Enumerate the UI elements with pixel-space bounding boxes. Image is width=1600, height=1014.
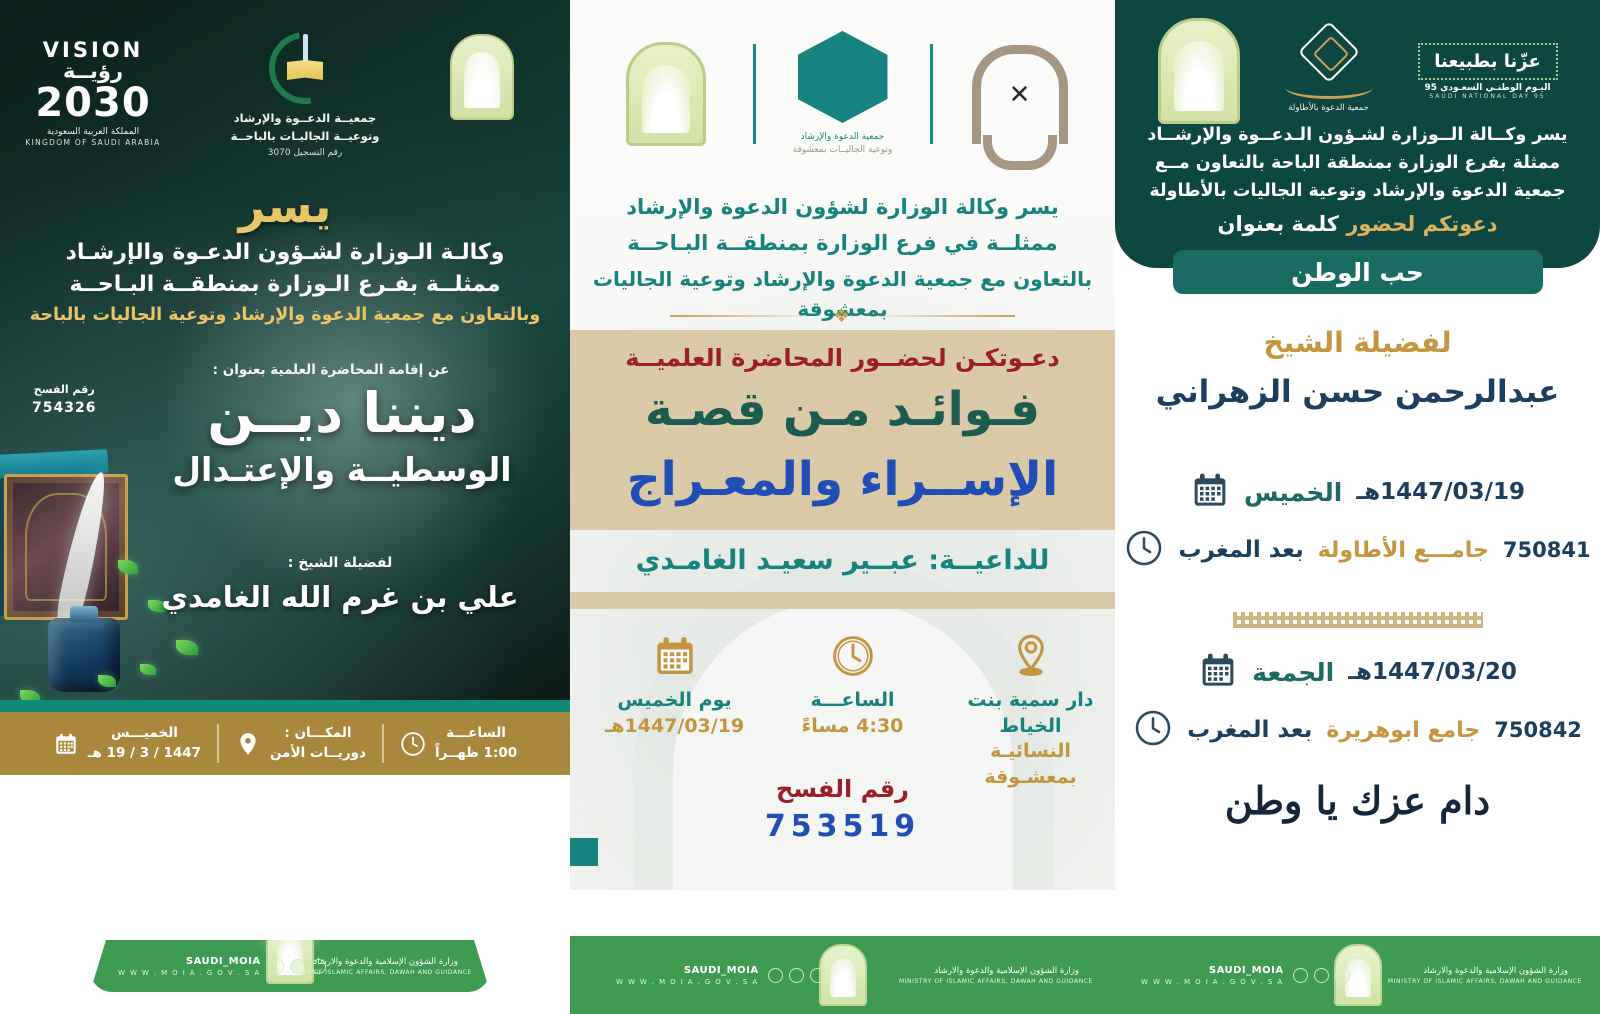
footer-url: W W W . M O I A . G O V . S A <box>1141 978 1284 986</box>
poster-1-sheikh-name: علي بن غرم الله الغامدي <box>130 580 550 614</box>
poster-2-title-line-1: فـوائـد مـن قصـة <box>570 385 1115 434</box>
poster-1-footer-wrap: SAUDI_MOIA W W W . M O I A . G O V . S A… <box>90 940 490 992</box>
poster-1-occasion: عن إقامة المحاضرة العلمية بعنوان : <box>116 362 546 378</box>
national-day-caption-ar: اليـوم الوطنـي السعـودي 95 <box>1418 83 1558 93</box>
permit-number: 754326 <box>32 398 96 418</box>
poster-1-accent-strip <box>0 700 570 712</box>
national-day-logo: عزّنا بطبيعنا اليـوم الوطنـي السعـودي 95… <box>1418 43 1558 100</box>
detail-date-label: يوم الخميس <box>595 688 755 714</box>
qaf-icon: ✕ <box>972 45 1068 144</box>
poster-3-sheikh-name: عبدالرحمن حسن الزهراني <box>1115 374 1600 410</box>
poster-1-header: VISION رؤيــة 2030 المملكة العربية السعو… <box>0 18 570 168</box>
poster-2: ✕ جمعية الدعوة والإرشاد وتوعية الجاليــا… <box>570 0 1115 1014</box>
ministry-footer-bar: SAUDI_MOIA W W W . M O I A . G O V . S A… <box>1115 936 1600 1014</box>
clock-icon <box>830 630 876 682</box>
invite-rest: كلمة بعنوان <box>1218 212 1340 236</box>
national-day-headline: عزّنا بطبيعنا <box>1418 43 1558 80</box>
ministry-logo-2 <box>591 42 741 146</box>
location-pin-icon <box>1009 630 1053 682</box>
detail-time-label: الساعـــة <box>773 688 933 714</box>
poster-1-permit: رقم الفسح 754326 <box>32 382 96 418</box>
calendar-icon <box>1198 650 1238 690</box>
poster-2-speaker: للداعيــة: عبــير سعيـد الغامـدي <box>570 545 1115 576</box>
footer-handle: SAUDI_MOIA <box>118 955 261 969</box>
info-item-time: الساعـــة 1:00 ظهــراً <box>384 724 533 763</box>
footer-url: W W W . M O I A . G O V . S A <box>118 969 261 977</box>
info-item-place: المكـــان : دوريــات الأمن <box>219 724 384 763</box>
invite-bold: دعوتكم لحضور <box>1346 212 1497 236</box>
calendar-icon <box>652 630 698 682</box>
ministry-line-2: ممثلــة بفـرع الـوزارة بمنطقــة البـاحــ… <box>0 269 570 301</box>
diamond-emblem-icon <box>1307 30 1351 74</box>
poster-1-yusr: يسر <box>0 183 570 229</box>
session-2-day: الجمعة <box>1252 658 1334 687</box>
ministry-emblem-icon <box>626 42 706 146</box>
twitter-icon[interactable] <box>810 968 825 983</box>
calendar-icon <box>53 731 79 757</box>
session-2-date: 1447/03/20هـ <box>1348 659 1517 685</box>
facebook-icon[interactable] <box>789 968 804 983</box>
date-value: 1447 / 3 / 19 هـ <box>88 744 201 764</box>
footer-url: W W W . M O I A . G O V . S A <box>616 978 759 986</box>
association-line-1: جمعيــة الدعــوة والإرشاد <box>215 110 395 128</box>
poster-2-invite: دعـوتكـن لحضــور المحاضرة العلميــة <box>570 344 1115 372</box>
poster-3: عزّنا بطبيعنا اليـوم الوطنـي السعـودي 95… <box>1115 0 1600 1014</box>
poster-1-sheikh-label: لفضيلة الشيخ : <box>130 555 550 571</box>
ministry-footer-bar: SAUDI_MOIA W W W . M O I A . G O V . S A… <box>570 936 1115 1014</box>
calendar-icon <box>1190 470 1230 510</box>
poster-1-title-line-1: ديننا ديــن <box>132 385 552 443</box>
session-1-date-row: 1447/03/19هـ الخميس <box>1115 470 1600 514</box>
detail-time-value: 4:30 مساءً <box>773 714 933 740</box>
poster-3-header-card: عزّنا بطبيعنا اليـوم الوطنـي السعـودي 95… <box>1115 0 1600 268</box>
poster-3-invite: دعوتكم لحضور كلمة بعنوان <box>1115 212 1600 236</box>
poster-2-ministry-line-2: ممثلــة في فرع الوزارة بمنطقــة البـاحــ… <box>570 228 1115 260</box>
date-day: الخميـــس <box>88 724 201 744</box>
kufic-cube-icon <box>798 31 888 123</box>
dawah-meshqa-logo: جمعية الدعوة والإرشاد وتوعية الجاليــات … <box>768 31 918 157</box>
poster-2-title-line-2: الإســراء والمعـراج <box>570 455 1115 504</box>
association-registration: رقم التسجيل 3070 <box>215 148 395 158</box>
poster-3-sheikh-label: لفضيلة الشيخ <box>1115 326 1600 359</box>
ministry-footer-bar: SAUDI_MOIA W W W . M O I A . G O V . S A… <box>90 940 490 992</box>
poster-2-permit: رقم الفسح 753519 <box>570 775 1115 844</box>
clock-icon <box>1133 708 1173 748</box>
poster-3-ornament-divider <box>1233 612 1483 628</box>
poster-3-calligraphy: دام عزك يا وطن <box>1115 778 1600 823</box>
poster-1-card: VISION رؤيــة 2030 المملكة العربية السعو… <box>0 0 570 775</box>
poster-1-ministry: وكالـة الـوزارة لشـؤون الدعـوة والإرشـاد… <box>0 237 570 301</box>
assoc2-line-1: جمعية الدعوة والإرشاد <box>793 131 893 144</box>
session-1-date: 1447/03/19هـ <box>1356 479 1525 505</box>
poster-2-details-row: دار سمية بنت الخياط النسائيـة بمعشـوقة ا… <box>570 622 1115 791</box>
poster-3-ministry-line-3: جمعية الدعوة والإرشاد وتوعية الجاليات با… <box>1115 178 1600 204</box>
poster-2-ministry-line-1: يسر وكالة الوزارة لشؤون الدعوة والإرشاد <box>570 192 1115 224</box>
detail-time: الساعـــة 4:30 مساءً <box>773 622 933 791</box>
session-2-time: بعد المغرب <box>1187 717 1312 743</box>
session-1-mosque: جامـــع الأطاولة <box>1318 538 1489 563</box>
instagram-icon[interactable] <box>768 968 783 983</box>
ornament-divider-icon: ❖ <box>663 305 1023 327</box>
vision-2030-logo: VISION رؤيــة 2030 المملكة العربية السعو… <box>18 40 168 147</box>
footer-ministry-ar: وزارة الشؤون الإسلامية والدعوة والارشاد <box>899 965 1093 978</box>
assoc2-line-2: وتوعية الجاليــات بمعشوقة <box>793 145 893 155</box>
instagram-icon[interactable] <box>1293 968 1308 983</box>
footer-handle: SAUDI_MOIA <box>616 964 759 978</box>
session-1-place-row: 750841 جامـــع الأطاولة بعد المغرب <box>1115 528 1600 572</box>
dawah-association-logo: جمعيــة الدعــوة والإرشاد وتوعيــة الجال… <box>215 32 395 158</box>
detail-date-value: 1447/03/19هـ <box>595 714 755 740</box>
poster-3-ministry-line-2: ممثلة بفرع الوزارة بمنطقة الباحة بالتعاو… <box>1115 150 1600 176</box>
logo-divider-1 <box>930 44 933 144</box>
session-2-place-row: 750842 جامع ابوهريرة بعد المغرب <box>1115 708 1600 752</box>
footer-ministry-ar: وزارة الشؤون الإسلامية والدعوة والارشاد <box>278 956 472 969</box>
ministry-emblem-icon <box>1158 18 1240 124</box>
footer-ministry-ar: وزارة الشؤون الإسلامية والدعوة والارشاد <box>1388 965 1582 978</box>
permit-label: رقم الفسح <box>32 382 96 398</box>
association3-caption: جمعية الدعوة بالأطاولة <box>1274 103 1384 113</box>
location-pin-icon <box>235 731 261 757</box>
detail-date: يوم الخميس 1447/03/19هـ <box>595 622 755 791</box>
poster-1-cooperation: وبالتعاون مع جمعية الدعوة والإرشاد وتوعي… <box>0 305 570 325</box>
ministry-dome-icon <box>819 944 867 1006</box>
clock-icon <box>1124 528 1164 568</box>
ministry-emblem-icon <box>450 34 514 120</box>
poster-2-separator-band <box>570 592 1115 609</box>
detail-place-label: دار سمية بنت الخياط <box>951 688 1111 739</box>
clock-icon <box>400 731 426 757</box>
info-item-date: الخميـــس 1447 / 3 / 19 هـ <box>37 724 219 763</box>
session-1-time: بعد المغرب <box>1178 537 1303 563</box>
session-2-date-row: 1447/03/20هـ الجمعة <box>1115 650 1600 694</box>
crescent-book-icon <box>269 32 341 104</box>
session-1-permit: 750841 <box>1503 538 1591 562</box>
time-value: 1:00 ظهــراً <box>435 744 517 764</box>
poster-1: VISION رؤيــة 2030 المملكة العربية السعو… <box>0 0 570 1014</box>
session-2-permit: 750842 <box>1494 718 1582 742</box>
dawah-atawlah-logo: جمعية الدعوة بالأطاولة <box>1274 30 1384 113</box>
place-value: دوريــات الأمن <box>270 744 366 764</box>
place-label: المكـــان : <box>270 724 366 744</box>
national-day-caption-en: SAUDI NATIONAL DAY 95 <box>1418 93 1558 100</box>
qaf-logo: ✕ <box>945 45 1095 144</box>
poster-3-topic-chip: حب الوطن <box>1173 250 1543 294</box>
footer-ministry-en: MINISTRY OF ISLAMIC AFFAIRS, DAWAH AND G… <box>899 978 1093 985</box>
vision-kingdom-en: KINGDOM OF SAUDI ARABIA <box>18 138 168 147</box>
poster-3-ministry-line-1: يسر وكــالة الــوزارة لشـؤون الـدعــوة و… <box>1115 122 1600 148</box>
social-icons[interactable] <box>768 968 825 983</box>
detail-place: دار سمية بنت الخياط النسائيـة بمعشـوقة <box>951 622 1111 791</box>
ministry-line-1: وكالـة الـوزارة لشـؤون الدعـوة والإرشـاد <box>0 237 570 269</box>
footer-handle: SAUDI_MOIA <box>1141 964 1284 978</box>
time-label: الساعـــة <box>435 724 517 744</box>
vision-kingdom-ar: المملكة العربية السعودية <box>18 126 168 138</box>
logo-divider-2 <box>753 44 756 144</box>
poster-3-logo-row: عزّنا بطبيعنا اليـوم الوطنـي السعـودي 95… <box>1115 16 1600 126</box>
permit-number: 753519 <box>570 809 1115 844</box>
association-line-2: وتوعيــة الجاليـات بالباحــة <box>215 128 395 146</box>
permit-label: رقم الفسح <box>570 775 1115 803</box>
poster-collage: VISION رؤيــة 2030 المملكة العربية السعو… <box>0 0 1600 1014</box>
social-icons[interactable] <box>1293 968 1350 983</box>
session-2-mosque: جامع ابوهريرة <box>1326 718 1480 743</box>
poster-1-info-bar: الساعـــة 1:00 ظهــراً المكـــان : دوريـ… <box>0 712 570 775</box>
session-1-day: الخميس <box>1244 478 1342 507</box>
twitter-icon[interactable] <box>1335 968 1350 983</box>
footer-ministry-en: MINISTRY OF ISLAMIC AFFAIRS, DAWAH AND G… <box>278 969 472 976</box>
vision-year: 2030 <box>18 82 168 124</box>
footer-ministry-en: MINISTRY OF ISLAMIC AFFAIRS, DAWAH AND G… <box>1388 978 1582 985</box>
vision-label: VISION رؤيــة <box>18 40 168 82</box>
poster-2-logo-row: ✕ جمعية الدعوة والإرشاد وتوعية الجاليــا… <box>570 14 1115 174</box>
facebook-icon[interactable] <box>1314 968 1329 983</box>
poster-1-title-line-2: الوسطيــة والإعتـدال <box>132 452 552 488</box>
